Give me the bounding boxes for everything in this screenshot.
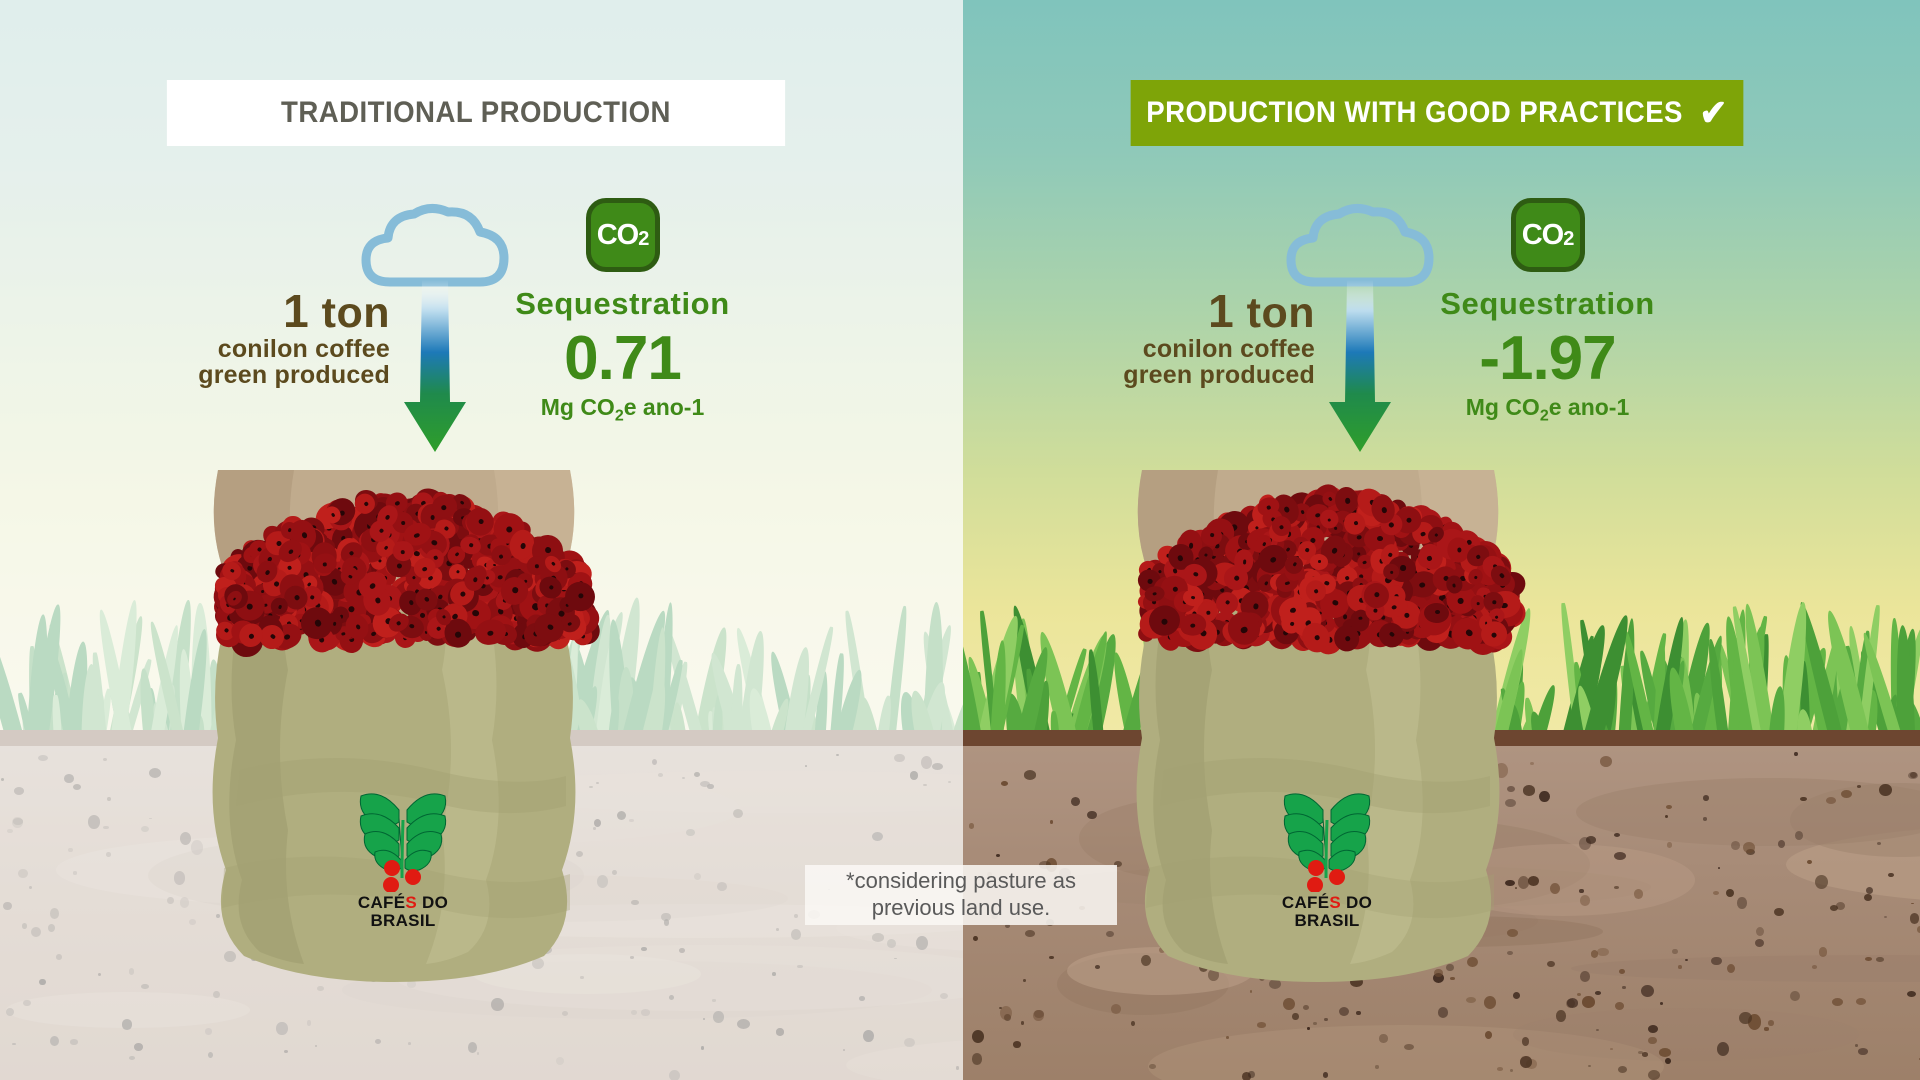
- unit-sub: 2: [615, 408, 624, 425]
- input-desc-line1: conilon coffee: [155, 336, 390, 362]
- logo-wordmark: CAFÉS DO BRASIL: [338, 894, 468, 931]
- unit-pre: Mg CO: [541, 394, 615, 420]
- input-desc-line2: green produced: [155, 362, 390, 388]
- coffee-berry-icon: [1307, 877, 1323, 892]
- logo-word-brasil: BRASIL: [1294, 911, 1359, 930]
- title-right-text: PRODUCTION WITH GOOD PRACTICES: [1146, 96, 1683, 130]
- footnote-text: *considering pasture as previous land us…: [815, 868, 1107, 922]
- cloud-icon-left: [360, 200, 510, 290]
- input-quantity-right: 1 ton conilon coffee green produced: [1080, 288, 1315, 388]
- cafes-do-brasil-logo-left: CAFÉS DO BRASIL: [338, 780, 468, 931]
- input-unit: ton: [322, 289, 390, 337]
- input-desc-line1: conilon coffee: [1080, 336, 1315, 362]
- logo-word-brasil: BRASIL: [370, 911, 435, 930]
- sequestration-label-left: Sequestration: [505, 286, 740, 322]
- input-amount: 1: [1208, 285, 1234, 337]
- sequestration-value-left: 0.71: [505, 328, 740, 390]
- logo-word-do: DO: [1341, 893, 1372, 912]
- sequestration-value-right: -1.97: [1430, 328, 1665, 390]
- coffee-berry-icon: [405, 869, 421, 885]
- check-icon: ✔: [1700, 95, 1728, 131]
- sequestration-unit-left: Mg CO2e ano-1: [505, 394, 740, 426]
- coffee-branch-icon: [347, 780, 459, 892]
- sequestration-block-left: CO2 Sequestration 0.71 Mg CO2e ano-1: [505, 198, 740, 426]
- sequestration-label-right: Sequestration: [1430, 286, 1665, 322]
- coffee-berry-icon: [383, 877, 399, 892]
- sequestration-block-right: CO2 Sequestration -1.97 Mg CO2e ano-1: [1430, 198, 1665, 426]
- co2-icon-label: CO: [1522, 219, 1564, 252]
- cafes-do-brasil-logo-right: CAFÉS DO BRASIL: [1262, 780, 1392, 931]
- cloud-icon-right: [1285, 200, 1435, 290]
- unit-post: e ano-1: [1549, 394, 1630, 420]
- flow-arrow-down-left: [400, 280, 470, 480]
- input-amount: 1: [283, 285, 309, 337]
- input-quantity-left: 1 ton conilon coffee green produced: [155, 288, 390, 388]
- coffee-berry-icon: [384, 860, 400, 876]
- logo-word-cafe: CAFÉ: [1282, 893, 1329, 912]
- co2-icon-right: CO2: [1511, 198, 1585, 272]
- logo-word-s: S: [405, 893, 417, 912]
- title-traditional-production: TRADITIONAL PRODUCTION: [167, 80, 785, 146]
- footnote-box: *considering pasture as previous land us…: [805, 865, 1117, 925]
- flow-arrow-down-right: [1325, 280, 1395, 480]
- coffee-berry-icon: [1308, 860, 1324, 876]
- coffee-berry-icon: [1329, 869, 1345, 885]
- infographic-canvas: CAFÉS DO BRASIL: [0, 0, 1920, 1080]
- input-desc-line2: green produced: [1080, 362, 1315, 388]
- input-amount-line: 1 ton: [1080, 288, 1315, 336]
- logo-wordmark: CAFÉS DO BRASIL: [1262, 894, 1392, 931]
- logo-word-s: S: [1329, 893, 1341, 912]
- coffee-cherry: [1309, 553, 1328, 570]
- coffee-cherries-right: [1137, 477, 1497, 627]
- sequestration-unit-right: Mg CO2e ano-1: [1430, 394, 1665, 426]
- logo-word-do: DO: [417, 893, 448, 912]
- coffee-branch-icon: [1271, 780, 1383, 892]
- input-unit: ton: [1247, 289, 1315, 337]
- coffee-cherry: [392, 540, 414, 561]
- coffee-cherries-left: [213, 477, 573, 627]
- unit-sub: 2: [1540, 408, 1549, 425]
- co2-icon-label: CO: [597, 219, 639, 252]
- unit-post: e ano-1: [624, 394, 705, 420]
- title-good-practices: PRODUCTION WITH GOOD PRACTICES ✔: [1131, 80, 1744, 146]
- co2-icon-subscript: 2: [638, 228, 648, 251]
- title-left-text: TRADITIONAL PRODUCTION: [281, 96, 671, 130]
- logo-word-cafe: CAFÉ: [358, 893, 405, 912]
- co2-icon-subscript: 2: [1563, 228, 1573, 251]
- co2-icon-left: CO2: [586, 198, 660, 272]
- unit-pre: Mg CO: [1466, 394, 1540, 420]
- input-amount-line: 1 ton: [155, 288, 390, 336]
